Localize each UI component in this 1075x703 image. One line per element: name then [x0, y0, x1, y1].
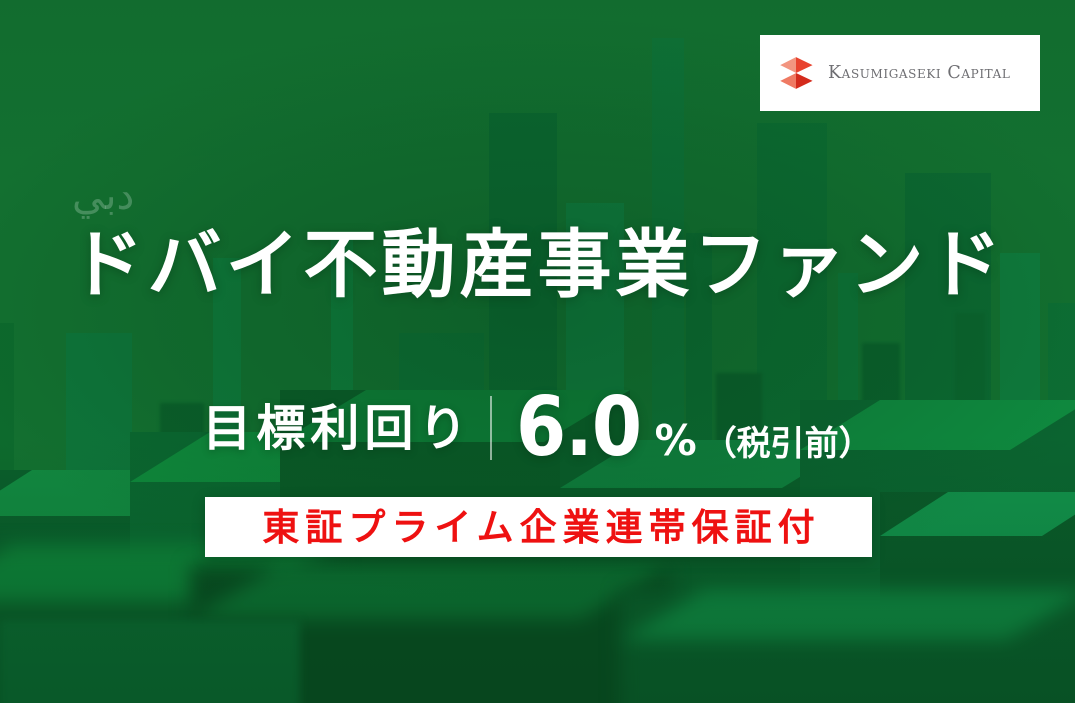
- percent-symbol: %: [655, 420, 697, 462]
- target-yield-row: 目標利回り 6.0 % （税引前）: [0, 390, 1075, 466]
- yield-value: 6.0: [516, 387, 641, 469]
- guarantee-badge: 東証プライム企業連帯保証付: [205, 497, 872, 557]
- promotional-banner: دبي Kasumigaseki Capital ドバイ不動産事業ファンド 目標…: [0, 0, 1075, 703]
- iso-block: [620, 590, 1075, 703]
- guarantee-badge-text: 東証プライム企業連帯保証付: [256, 509, 820, 546]
- yield-figure-group: 6.0 % （税引前）: [516, 387, 872, 469]
- target-yield-label: 目標利回り: [202, 404, 472, 453]
- kasumigaseki-cube-logo-icon: [778, 55, 814, 91]
- company-name-text: Kasumigaseki Capital: [828, 63, 1010, 83]
- arabic-watermark: دبي: [72, 176, 134, 216]
- vertical-divider: [490, 396, 492, 460]
- iso-block: [0, 620, 300, 703]
- pre-tax-note: （税引前）: [703, 427, 873, 461]
- headline-title: ドバイ不動産事業ファンド: [0, 228, 1075, 302]
- company-logo[interactable]: Kasumigaseki Capital: [760, 35, 1040, 111]
